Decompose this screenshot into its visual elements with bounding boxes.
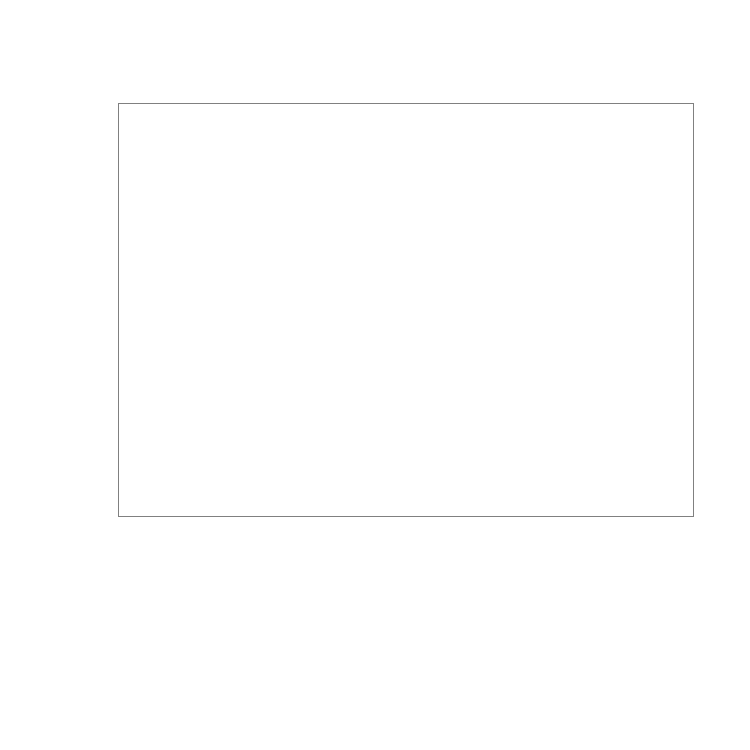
plot-panel [118, 103, 694, 517]
scatter-plot-svg [119, 104, 692, 515]
chart-figure [0, 0, 750, 750]
